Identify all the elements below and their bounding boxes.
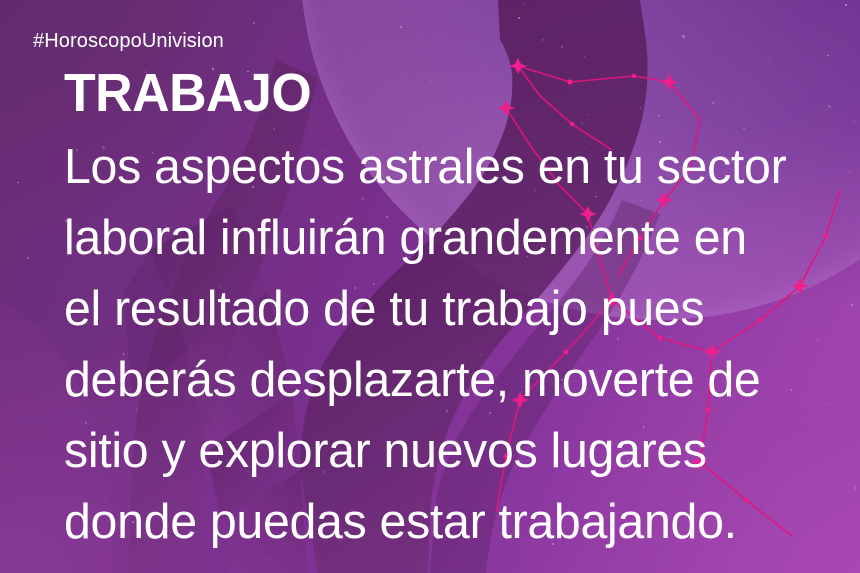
body-text-line: deberás desplazarte, moverte de — [64, 345, 852, 416]
body-text-line: el resultado de tu trabajo pues — [64, 274, 852, 345]
text-block: #HoroscopoUnivision TRABAJO Los aspectos… — [0, 0, 860, 573]
body-text-line: sitio y explorar nuevos lugares — [64, 416, 852, 487]
horoscope-card: #HoroscopoUnivision TRABAJO Los aspectos… — [0, 0, 860, 573]
body-text-line: laboral influirán grandemente en — [64, 203, 852, 274]
body-text-line: donde puedas estar trabajando. — [64, 487, 852, 558]
hashtag-label: #HoroscopoUnivision — [33, 30, 224, 53]
page-title: TRABAJO — [64, 64, 311, 122]
body-text: Los aspectos astrales en tu sectorlabora… — [64, 132, 860, 558]
body-text-line: Los aspectos astrales en tu sector — [64, 132, 852, 203]
